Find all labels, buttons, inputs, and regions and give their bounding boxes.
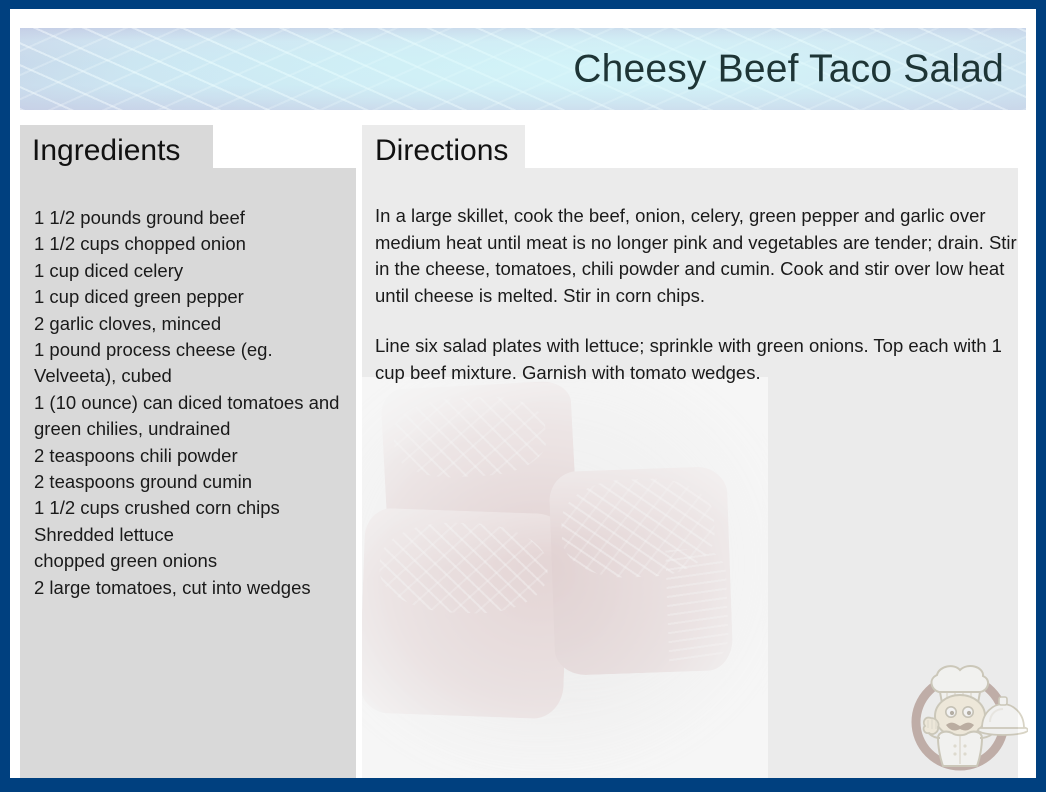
ingredient-item: 1 cup diced green pepper bbox=[34, 284, 358, 310]
ingredient-item: 1 (10 ounce) can diced tomatoes and gree… bbox=[34, 390, 358, 443]
directions-header-tab: Directions bbox=[362, 125, 525, 168]
ingredient-item: 2 large tomatoes, cut into wedges bbox=[34, 575, 358, 601]
beef-photo-blend bbox=[362, 383, 762, 778]
title-banner: Cheesy Beef Taco Salad bbox=[20, 28, 1026, 110]
page-title: Cheesy Beef Taco Salad bbox=[573, 50, 1004, 89]
ingredient-item: Shredded lettuce bbox=[34, 522, 358, 548]
recipe-card-frame: Cheesy Beef Taco Salad Ingredients 1 1/2… bbox=[0, 0, 1046, 792]
ingredient-item: 2 garlic cloves, minced bbox=[34, 311, 358, 337]
ingredient-item: 2 teaspoons ground cumin bbox=[34, 469, 358, 495]
ingredient-item: 1 pound process cheese (eg. Velveeta), c… bbox=[34, 337, 358, 390]
ingredient-item: 1 cup diced celery bbox=[34, 258, 358, 284]
ingredients-list: 1 1/2 pounds ground beef1 1/2 cups chopp… bbox=[34, 205, 358, 601]
beef-photo bbox=[362, 383, 762, 778]
directions-heading: Directions bbox=[375, 136, 508, 166]
ingredient-item: chopped green onions bbox=[34, 548, 358, 574]
ingredient-item: 1 1/2 pounds ground beef bbox=[34, 205, 358, 231]
ingredient-item: 1 1/2 cups crushed corn chips bbox=[34, 495, 358, 521]
directions-paragraph: Line six salad plates with lettuce; spri… bbox=[375, 333, 1018, 386]
ingredient-item: 1 1/2 cups chopped onion bbox=[34, 231, 358, 257]
ingredients-header-tab: Ingredients bbox=[20, 125, 213, 168]
ingredient-item: 2 teaspoons chili powder bbox=[34, 443, 358, 469]
directions-paragraph: In a large skillet, cook the beef, onion… bbox=[375, 203, 1018, 309]
directions-text: In a large skillet, cook the beef, onion… bbox=[375, 203, 1018, 386]
ingredients-heading: Ingredients bbox=[32, 136, 180, 166]
ingredients-panel: 1 1/2 pounds ground beef1 1/2 cups chopp… bbox=[20, 168, 356, 778]
chef-logo bbox=[898, 646, 1028, 776]
recipe-page: Cheesy Beef Taco Salad Ingredients 1 1/2… bbox=[10, 9, 1036, 778]
